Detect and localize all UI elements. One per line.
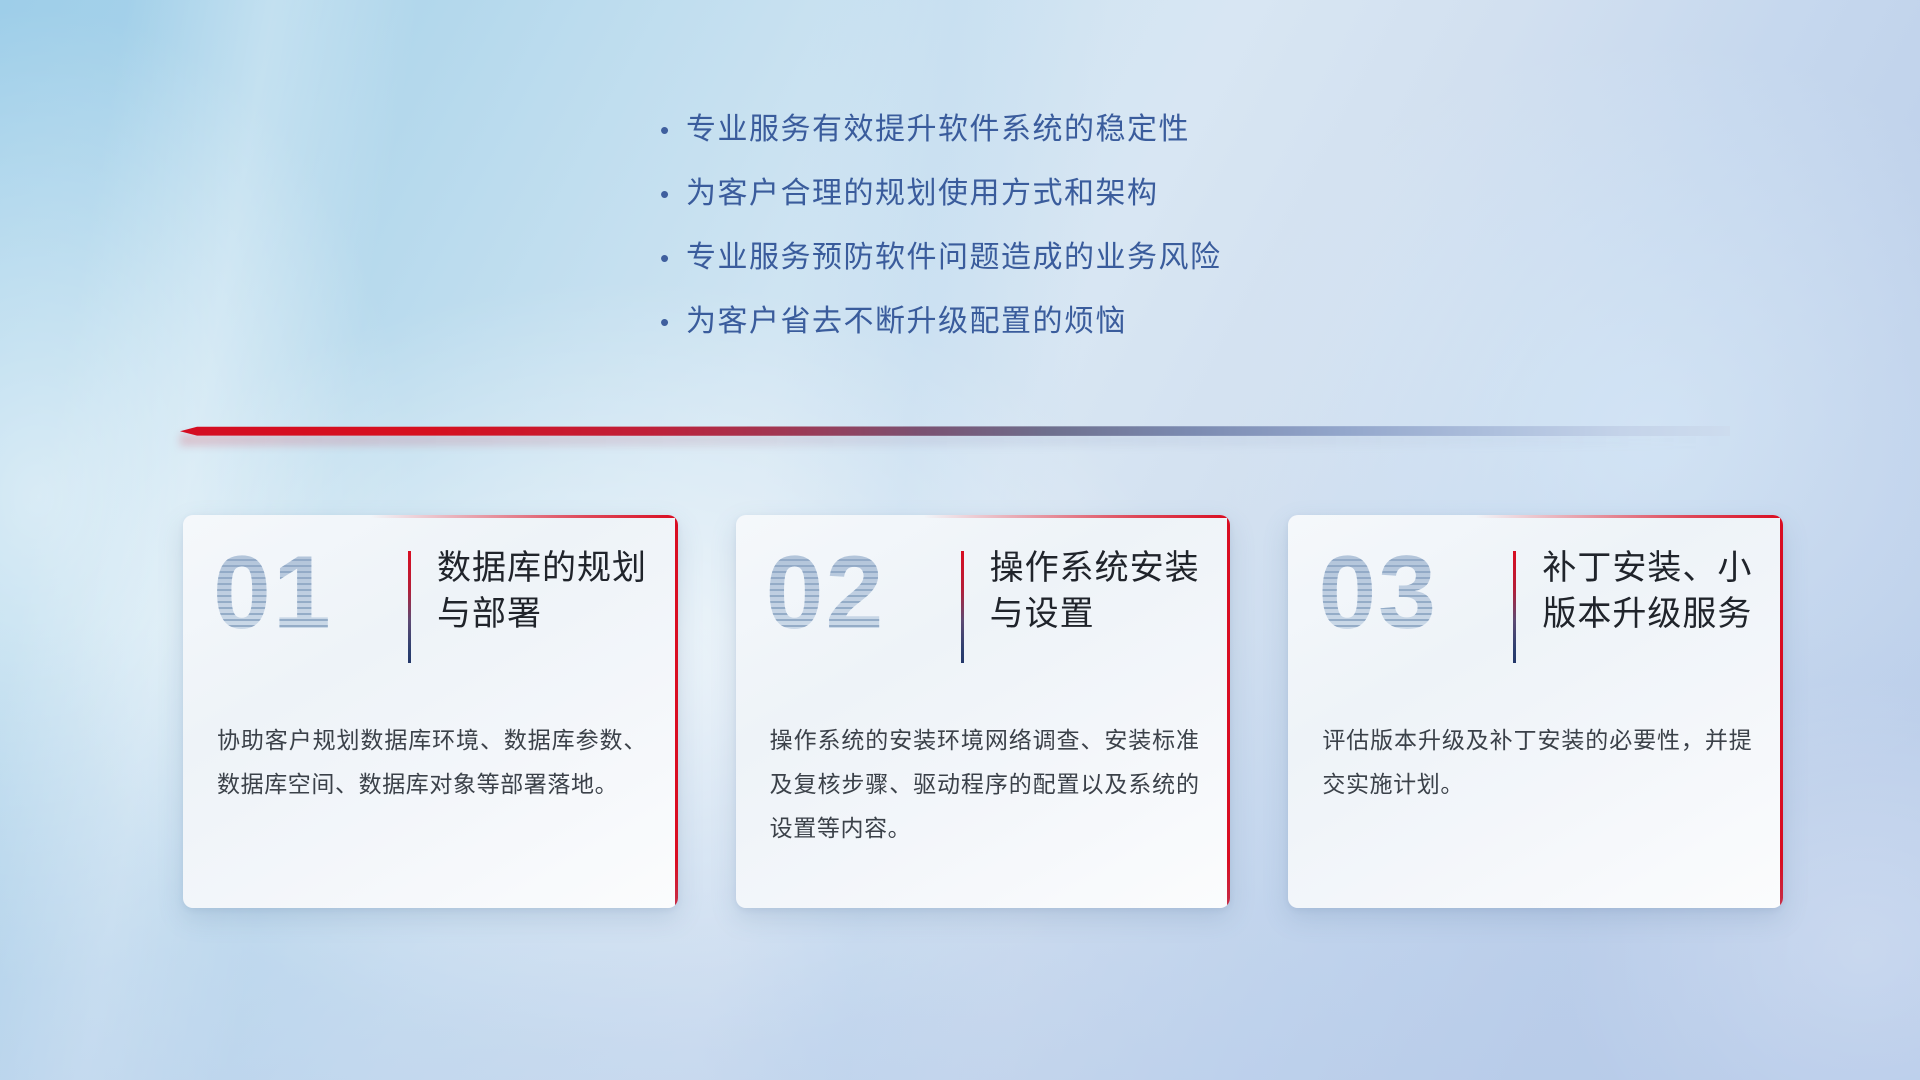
bullet-item-text: 为客户合理的规划使用方式和架构 (686, 168, 1159, 212)
list-item: • 专业服务预防软件问题造成的业务风险 (660, 232, 1520, 296)
section-divider (180, 424, 1730, 440)
card-header: 03 补丁安装、小版本升级服务 (1288, 515, 1783, 687)
service-card-02[interactable]: 02 操作系统安装与设置 操作系统的安装环境网络调查、安装标准及复核步骤、驱动程… (736, 515, 1231, 908)
divider-stripe (180, 426, 1730, 436)
service-card-03[interactable]: 03 补丁安装、小版本升级服务 评估版本升级及补丁安装的必要性，并提交实施计划。 (1288, 515, 1783, 908)
card-header: 02 操作系统安装与设置 (736, 515, 1231, 687)
bullet-item-text: 专业服务预防软件问题造成的业务风险 (686, 232, 1222, 276)
title-accent-bar (1513, 551, 1516, 663)
service-card-group: 01 数据库的规划与部署 协助客户规划数据库环境、数据库参数、数据库空间、数据库… (183, 515, 1783, 915)
title-accent-bar (961, 551, 964, 663)
title-accent-bar (408, 551, 411, 663)
card-description: 协助客户规划数据库环境、数据库参数、数据库空间、数据库对象等部署落地。 (217, 718, 647, 806)
card-title-block: 数据库的规划与部署 (408, 545, 677, 663)
service-card-01[interactable]: 01 数据库的规划与部署 协助客户规划数据库环境、数据库参数、数据库空间、数据库… (183, 515, 678, 908)
bullet-item-text: 为客户省去不断升级配置的烦恼 (686, 296, 1127, 340)
bullet-dot-icon: • (660, 245, 686, 271)
card-description: 评估版本升级及补丁安装的必要性，并提交实施计划。 (1322, 718, 1752, 806)
card-title: 数据库的规划与部署 (437, 545, 677, 637)
card-title-block: 操作系统安装与设置 (961, 545, 1230, 663)
card-number-watermark: 01 (213, 541, 333, 645)
card-title-block: 补丁安装、小版本升级服务 (1513, 545, 1782, 663)
list-item: • 为客户合理的规划使用方式和架构 (660, 168, 1520, 232)
list-item: • 为客户省去不断升级配置的烦恼 (660, 296, 1520, 360)
card-number-watermark: 03 (1318, 541, 1438, 645)
card-title: 操作系统安装与设置 (990, 545, 1230, 637)
list-item: • 专业服务有效提升软件系统的稳定性 (660, 104, 1520, 168)
card-title: 补丁安装、小版本升级服务 (1542, 545, 1782, 637)
benefits-bullet-list: • 专业服务有效提升软件系统的稳定性 • 为客户合理的规划使用方式和架构 • 专… (660, 104, 1520, 360)
bullet-item-text: 专业服务有效提升软件系统的稳定性 (686, 104, 1190, 148)
bullet-dot-icon: • (660, 181, 686, 207)
bullet-dot-icon: • (660, 309, 686, 335)
bullet-dot-icon: • (660, 117, 686, 143)
card-header: 01 数据库的规划与部署 (183, 515, 678, 687)
card-number-watermark: 02 (766, 541, 886, 645)
card-description: 操作系统的安装环境网络调查、安装标准及复核步骤、驱动程序的配置以及系统的设置等内… (770, 718, 1200, 850)
